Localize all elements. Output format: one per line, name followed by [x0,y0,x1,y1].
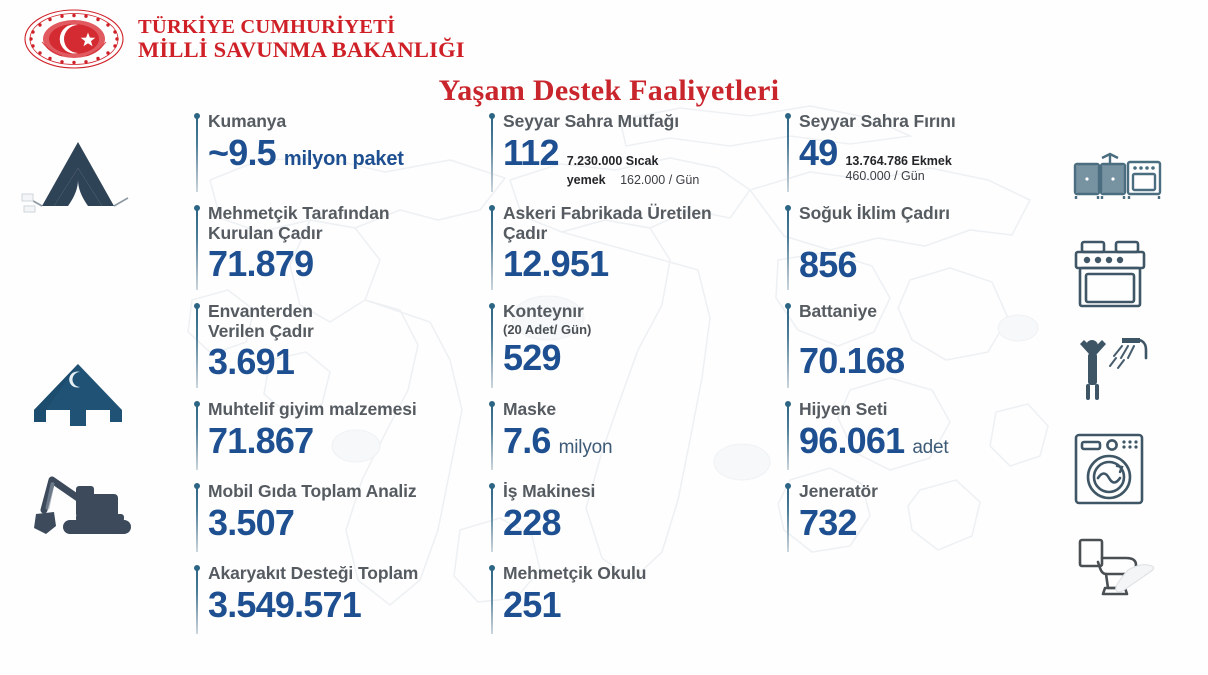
stat-label: Askeri Fabrikada Üretilen Çadır [503,204,772,243]
infographic-page: TÜRKİYE CUMHURİYETİ MİLLİ SAVUNMA BAKANL… [0,0,1208,675]
stat-value-row: 3.549.571 [208,586,482,624]
stats-column-2: Seyyar Sahra Mutfağı 112 7.230.000 Sıcak… [487,112,772,646]
stat-konteynir: Konteynır (20 Adet/ Gün) 529 [487,302,772,394]
stat-unit: milyon [559,437,613,459]
stat-battaniye: Battaniye 70.168 [783,302,1073,394]
stat-rule [491,569,493,634]
stat-mehmetcik-okulu: Mehmetçik Okulu 251 [487,564,772,640]
stats-column-1: Kumanya ~9.5 milyon paket Mehmetçik Tara… [192,112,482,646]
stat-akaryakit-destegi-toplam: Akaryakıt Desteği Toplam 3.549.571 [192,564,482,640]
stat-value: 71.879 [208,245,313,283]
stat-value: 856 [799,246,857,284]
stat-sublabel: (20 Adet/ Gün) [503,323,772,337]
stat-rule [196,405,198,470]
stat-value-row: 856 [799,246,1073,284]
stat-rule [491,117,493,192]
stat-label: Envanterden Verilen Çadır [208,302,482,341]
stat-rule [787,209,789,290]
stat-label: Seyyar Sahra Mutfağı [503,112,772,132]
stat-unit: adet [912,437,948,459]
stat-label: Soğuk İklim Çadırı [799,204,1073,224]
stat-value-row: 529 [503,339,772,377]
stat-rule [196,569,198,634]
stat-value-row: 112 7.230.000 Sıcak yemek 162.000 / Gün [503,134,772,191]
stat-value: 7.6 [503,422,551,460]
stat-value-row: 228 [503,504,772,542]
stat-rule [196,487,198,552]
page-header: TÜRKİYE CUMHURİYETİ MİLLİ SAVUNMA BAKANL… [0,0,1208,70]
stat-value-row: 3.691 [208,343,482,381]
stat-is-makinesi: İş Makinesi 228 [487,482,772,558]
stat-value-row: 49 13.764.786 Ekmek 460.000 / Gün [799,134,1073,186]
stat-kumanya: Kumanya ~9.5 milyon paket [192,112,482,198]
stat-value-row: 71.879 [208,245,482,283]
stat-value-row: 7.6 milyon [503,422,772,460]
stat-value-row: ~9.5 milyon paket [208,134,482,172]
stat-notes: 7.230.000 Sıcak yemek 162.000 / Gün [567,151,700,191]
stat-maske: Maske 7.6 milyon [487,400,772,476]
stat-value: 12.951 [503,245,608,283]
stat-unit: milyon paket [284,148,404,171]
stat-value-row: 70.168 [799,342,1073,380]
stat-hijyen-seti: Hijyen Seti 96.061 adet [783,400,1073,476]
stat-label: Mehmetçik Tarafından Kurulan Çadır [208,204,482,243]
stat-muhtelif-giyim-malzemesi: Muhtelif giyim malzemesi 71.867 [192,400,482,476]
stat-note-secondary: 162.000 / Gün [620,173,699,187]
stat-mehmetcik-kurulan-cadir: Mehmetçik Tarafından Kurulan Çadır 71.87… [192,204,482,296]
stat-value-row: 96.061 adet [799,422,1073,460]
stat-rule [491,405,493,470]
stat-note-secondary: 460.000 / Gün [845,169,951,184]
ministry-line-1: TÜRKİYE CUMHURİYETİ [138,16,465,38]
stat-value-row: 732 [799,504,1073,542]
stat-label: İş Makinesi [503,482,772,502]
stat-label: Battaniye [799,302,1073,322]
stat-rule [491,209,493,290]
stat-askeri-fabrikada-uretilen-cadir: Askeri Fabrikada Üretilen Çadır 12.951 [487,204,772,296]
stat-label: Akaryakıt Desteği Toplam [208,564,482,584]
stat-rule [491,307,493,388]
stat-value: 228 [503,504,561,542]
stat-value-row: 12.951 [503,245,772,283]
stat-rule [196,209,198,290]
stat-label: Maske [503,400,772,420]
stat-value: 112 [503,134,559,172]
stat-value: 529 [503,339,561,377]
page-title: Yaşam Destek Faaliyetleri [0,74,1208,108]
stat-label: Jeneratör [799,482,1073,502]
stat-label: Seyyar Sahra Fırını [799,112,1073,132]
stat-jeneratör: Jeneratör 732 [783,482,1073,558]
stat-value: 96.061 [799,422,904,460]
stat-label: Mehmetçik Okulu [503,564,772,584]
stat-label: Hijyen Seti [799,400,1073,420]
stat-value-row: 71.867 [208,422,482,460]
stat-value: 732 [799,504,857,542]
stat-label: Mobil Gıda Toplam Analiz [208,482,482,502]
stat-rule [491,487,493,552]
stat-value: ~9.5 [208,134,276,172]
ministry-name: TÜRKİYE CUMHURİYETİ MİLLİ SAVUNMA BAKANL… [138,16,465,62]
stat-envanterden-verilen-cadir: Envanterden Verilen Çadır 3.691 [192,302,482,394]
stat-soguk-iklim-cadiri: Soğuk İklim Çadırı 856 [783,204,1073,296]
stat-rule [196,307,198,388]
stat-label: Konteynır [503,302,772,322]
turkish-ministry-of-national-defence-emblem-icon [22,8,126,70]
stat-value: 251 [503,586,561,624]
stat-value: 3.549.571 [208,586,361,624]
stat-value: 3.507 [208,504,294,542]
stats-column-3: Seyyar Sahra Fırını 49 13.764.786 Ekmek … [783,112,1073,564]
stat-notes: 13.764.786 Ekmek 460.000 / Gün [845,154,951,186]
stat-value: 70.168 [799,342,904,380]
stat-seyyar-sahra-firini: Seyyar Sahra Fırını 49 13.764.786 Ekmek … [783,112,1073,198]
stat-value: 71.867 [208,422,313,460]
stat-value: 49 [799,134,837,172]
stat-label: Kumanya [208,112,482,132]
stat-rule [196,117,198,192]
ministry-line-2: MİLLİ SAVUNMA BAKANLIĞI [138,38,465,62]
stat-label: Muhtelif giyim malzemesi [208,400,482,420]
stat-rule [787,405,789,470]
stat-rule [787,307,789,388]
stat-value-row: 251 [503,586,772,624]
stat-value: 3.691 [208,343,294,381]
stat-rule [787,117,789,192]
stat-note-primary: 13.764.786 Ekmek [845,154,951,169]
stat-rule [787,487,789,552]
stat-value-row: 3.507 [208,504,482,542]
stat-mobil-gida-toplam-analiz: Mobil Gıda Toplam Analiz 3.507 [192,482,482,558]
stat-seyyar-sahra-mutfagi: Seyyar Sahra Mutfağı 112 7.230.000 Sıcak… [487,112,772,198]
